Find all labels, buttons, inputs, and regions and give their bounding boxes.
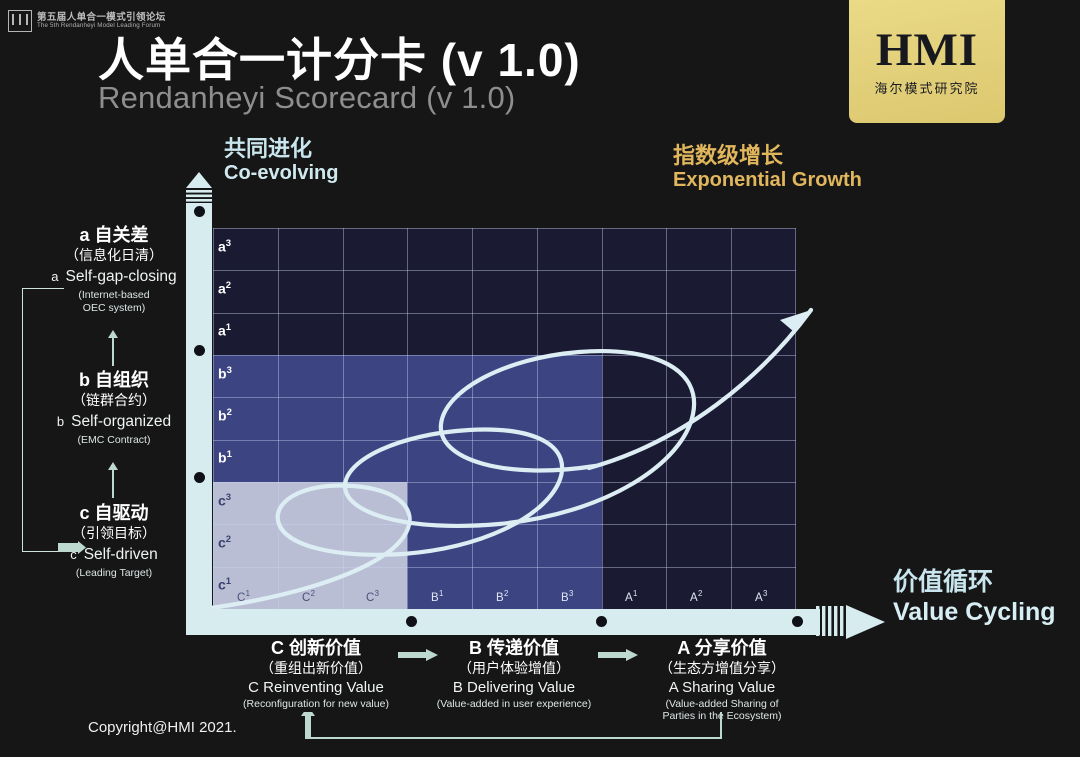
y-level-b-key: b — [57, 414, 64, 429]
copyright-text: Copyright@HMI 2021. — [88, 719, 237, 736]
y-level-b: b 自组织 （链群合约） bSelf-organized (EMC Contra… — [4, 370, 224, 447]
x-level-B: B 传递价值 （用户体验增值） B Delivering Value (Valu… — [420, 637, 608, 710]
x-level-A-cn-paren: （生态方增值分享） — [628, 660, 816, 678]
y-level-c-cn-title: c 自驱动 — [4, 503, 224, 525]
y-level-b-en-label: Self-organized — [71, 413, 171, 430]
x-axis-bar — [186, 609, 820, 635]
y-tick-dot — [194, 472, 205, 483]
y-tick-dot — [194, 206, 205, 217]
x-level-C-en-title: C Reinventing Value — [222, 679, 410, 698]
x-level-A-cn-title: A 分享价值 — [628, 637, 816, 660]
x-axis-caption-cn: 价值循环 — [893, 568, 1056, 598]
y-axis-caption-cn: 共同进化 — [224, 136, 338, 162]
x-level-C-en-sub1: (Reconfiguration for new value) — [222, 698, 410, 711]
y-level-b-cn-paren: （链群合约） — [4, 392, 224, 409]
up-arrow-icon-ba — [106, 330, 120, 366]
x-level-B-en-title: B Delivering Value — [420, 679, 608, 698]
growth-caption-cn: 指数级增长 — [673, 143, 862, 169]
x-axis-caption-en: Value Cycling — [893, 598, 1056, 628]
scorecard-poster: 第五届人单合一模式引领论坛 The 5th Rendanheyi Model L… — [0, 0, 1080, 757]
hmi-badge: HMI 海尔模式研究院 — [849, 0, 1005, 123]
up-arrow-icon-cb — [106, 462, 120, 498]
y-level-c-cn-paren: （引领目标） — [4, 525, 224, 542]
y-level-a-en-sub1: (Internet-based — [4, 289, 224, 302]
y-level-a-key: a — [51, 269, 58, 284]
x-tick-dot — [406, 616, 417, 627]
growth-caption-en: Exponential Growth — [673, 169, 862, 193]
x-level-A-en-title: A Sharing Value — [628, 679, 816, 698]
feedback-loop-arrow-icon — [295, 712, 725, 744]
y-level-a-en-title: aSelf-gap-closing — [4, 268, 224, 287]
y-level-b-en-title: bSelf-organized — [4, 413, 224, 432]
x-level-B-cn-title: B 传递价值 — [420, 637, 608, 660]
page-title-en: Rendanheyi Scorecard (v 1.0) — [98, 80, 515, 116]
spiral-growth-curve — [213, 228, 796, 609]
y-level-a: a 自关差 （信息化日清） aSelf-gap-closing (Interne… — [4, 225, 224, 315]
y-level-c-en-sub1: (Leading Target) — [4, 567, 224, 580]
x-level-B-en-sub1: (Value-added in user experience) — [420, 698, 608, 711]
x-level-A-en-sub1: (Value-added Sharing of — [628, 698, 816, 711]
x-level-A: A 分享价值 （生态方增值分享） A Sharing Value (Value-… — [628, 637, 816, 723]
hmi-badge-sub: 海尔模式研究院 — [874, 78, 979, 97]
x-axis-caption: 价值循环 Value Cycling — [893, 568, 1056, 627]
y-level-a-cn-title: a 自关差 — [4, 225, 224, 247]
x-level-C-cn-title: C 创新价值 — [222, 637, 410, 660]
scorecard-matrix: a3 a2 a1 b3 b2 b1 c3 c2 c1 C1 C2 C3 B1 B… — [213, 228, 796, 609]
y-level-c-key: c — [70, 547, 77, 562]
forum-mark-icon — [8, 10, 32, 32]
x-level-B-cn-paren: （用户体验增值） — [420, 660, 608, 678]
y-level-a-en-sub2: OEC system) — [4, 302, 224, 315]
y-axis-caption: 共同进化 Co-evolving — [224, 136, 338, 186]
y-level-b-en-sub1: (EMC Contract) — [4, 434, 224, 447]
x-tick-dot — [792, 616, 803, 627]
y-axis-caption-en: Co-evolving — [224, 162, 338, 186]
y-level-c-en-label: Self-driven — [84, 546, 158, 563]
x-level-C-cn-paren: （重组出新价值） — [222, 660, 410, 678]
x-tick-dot — [596, 616, 607, 627]
y-level-a-cn-paren: （信息化日清） — [4, 247, 224, 264]
hmi-badge-main: HMI — [876, 27, 978, 74]
growth-caption: 指数级增长 Exponential Growth — [673, 143, 862, 193]
x-axis-arrow-icon — [816, 605, 886, 639]
growth-arrowhead-icon — [780, 310, 811, 331]
y-level-c-en-title: cSelf-driven — [4, 546, 224, 565]
y-level-a-en-label: Self-gap-closing — [66, 268, 177, 285]
y-axis-arrow-icon — [185, 172, 213, 205]
x-level-C: C 创新价值 （重组出新价值） C Reinventing Value (Rec… — [222, 637, 410, 710]
y-level-c: c 自驱动 （引领目标） cSelf-driven (Leading Targe… — [4, 503, 224, 580]
y-tick-dot — [194, 345, 205, 356]
y-level-b-cn-title: b 自组织 — [4, 370, 224, 392]
